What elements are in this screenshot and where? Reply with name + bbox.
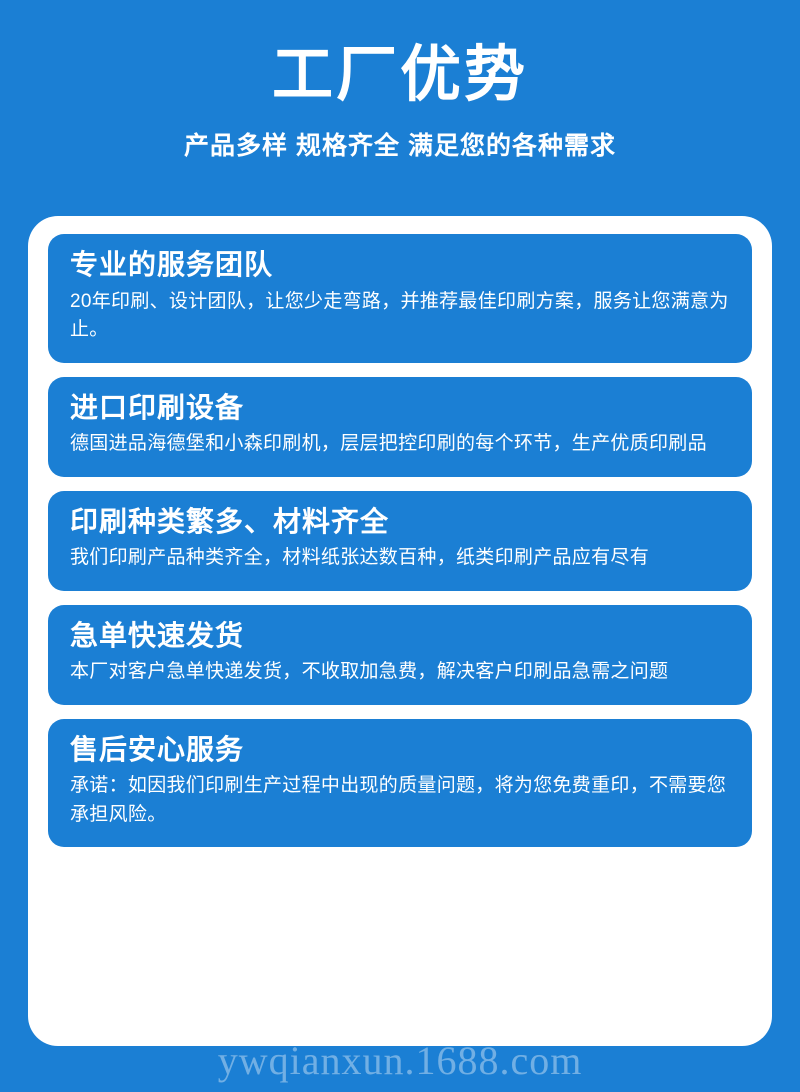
advantage-card-body: 本厂对客户急单快递发货，不收取加急费，解决客户印刷品急需之问题 xyxy=(70,658,730,687)
advantage-card-title: 专业的服务团队 xyxy=(70,248,730,282)
advantage-card-body: 承诺：如因我们印刷生产过程中出现的质量问题，将为您免费重印，不需要您承担风险。 xyxy=(70,772,730,829)
advantage-card: 专业的服务团队 20年印刷、设计团队，让您少走弯路，并推荐最佳印刷方案，服务让您… xyxy=(48,234,752,363)
advantage-card: 售后安心服务 承诺：如因我们印刷生产过程中出现的质量问题，将为您免费重印，不需要… xyxy=(48,719,752,848)
poster-page: 工厂优势 产品多样 规格齐全 满足您的各种需求 专业的服务团队 20年印刷、设计… xyxy=(0,0,800,1092)
poster-header: 工厂优势 产品多样 规格齐全 满足您的各种需求 xyxy=(0,0,800,162)
advantage-card-body: 我们印刷产品种类齐全，材料纸张达数百种，纸类印刷产品应有尽有 xyxy=(70,544,730,573)
advantage-card-body: 20年印刷、设计团队，让您少走弯路，并推荐最佳印刷方案，服务让您满意为止。 xyxy=(70,288,730,345)
advantage-card-title: 进口印刷设备 xyxy=(70,391,730,425)
advantage-card-title: 印刷种类繁多、材料齐全 xyxy=(70,505,730,539)
advantage-card-title: 急单快速发货 xyxy=(70,619,730,653)
advantage-card-list: 专业的服务团队 20年印刷、设计团队，让您少走弯路，并推荐最佳印刷方案，服务让您… xyxy=(48,234,752,847)
advantages-panel: 专业的服务团队 20年印刷、设计团队，让您少走弯路，并推荐最佳印刷方案，服务让您… xyxy=(28,216,772,1046)
advantage-card: 印刷种类繁多、材料齐全 我们印刷产品种类齐全，材料纸张达数百种，纸类印刷产品应有… xyxy=(48,491,752,591)
advantage-card-title: 售后安心服务 xyxy=(70,733,730,767)
advantage-card: 急单快速发货 本厂对客户急单快递发货，不收取加急费，解决客户印刷品急需之问题 xyxy=(48,605,752,705)
page-subtitle: 产品多样 规格齐全 满足您的各种需求 xyxy=(0,126,800,162)
page-title: 工厂优势 xyxy=(0,42,800,106)
advantage-card-body: 德国进品海德堡和小森印刷机，层层把控印刷的每个环节，生产优质印刷品 xyxy=(70,430,730,459)
advantage-card: 进口印刷设备 德国进品海德堡和小森印刷机，层层把控印刷的每个环节，生产优质印刷品 xyxy=(48,377,752,477)
